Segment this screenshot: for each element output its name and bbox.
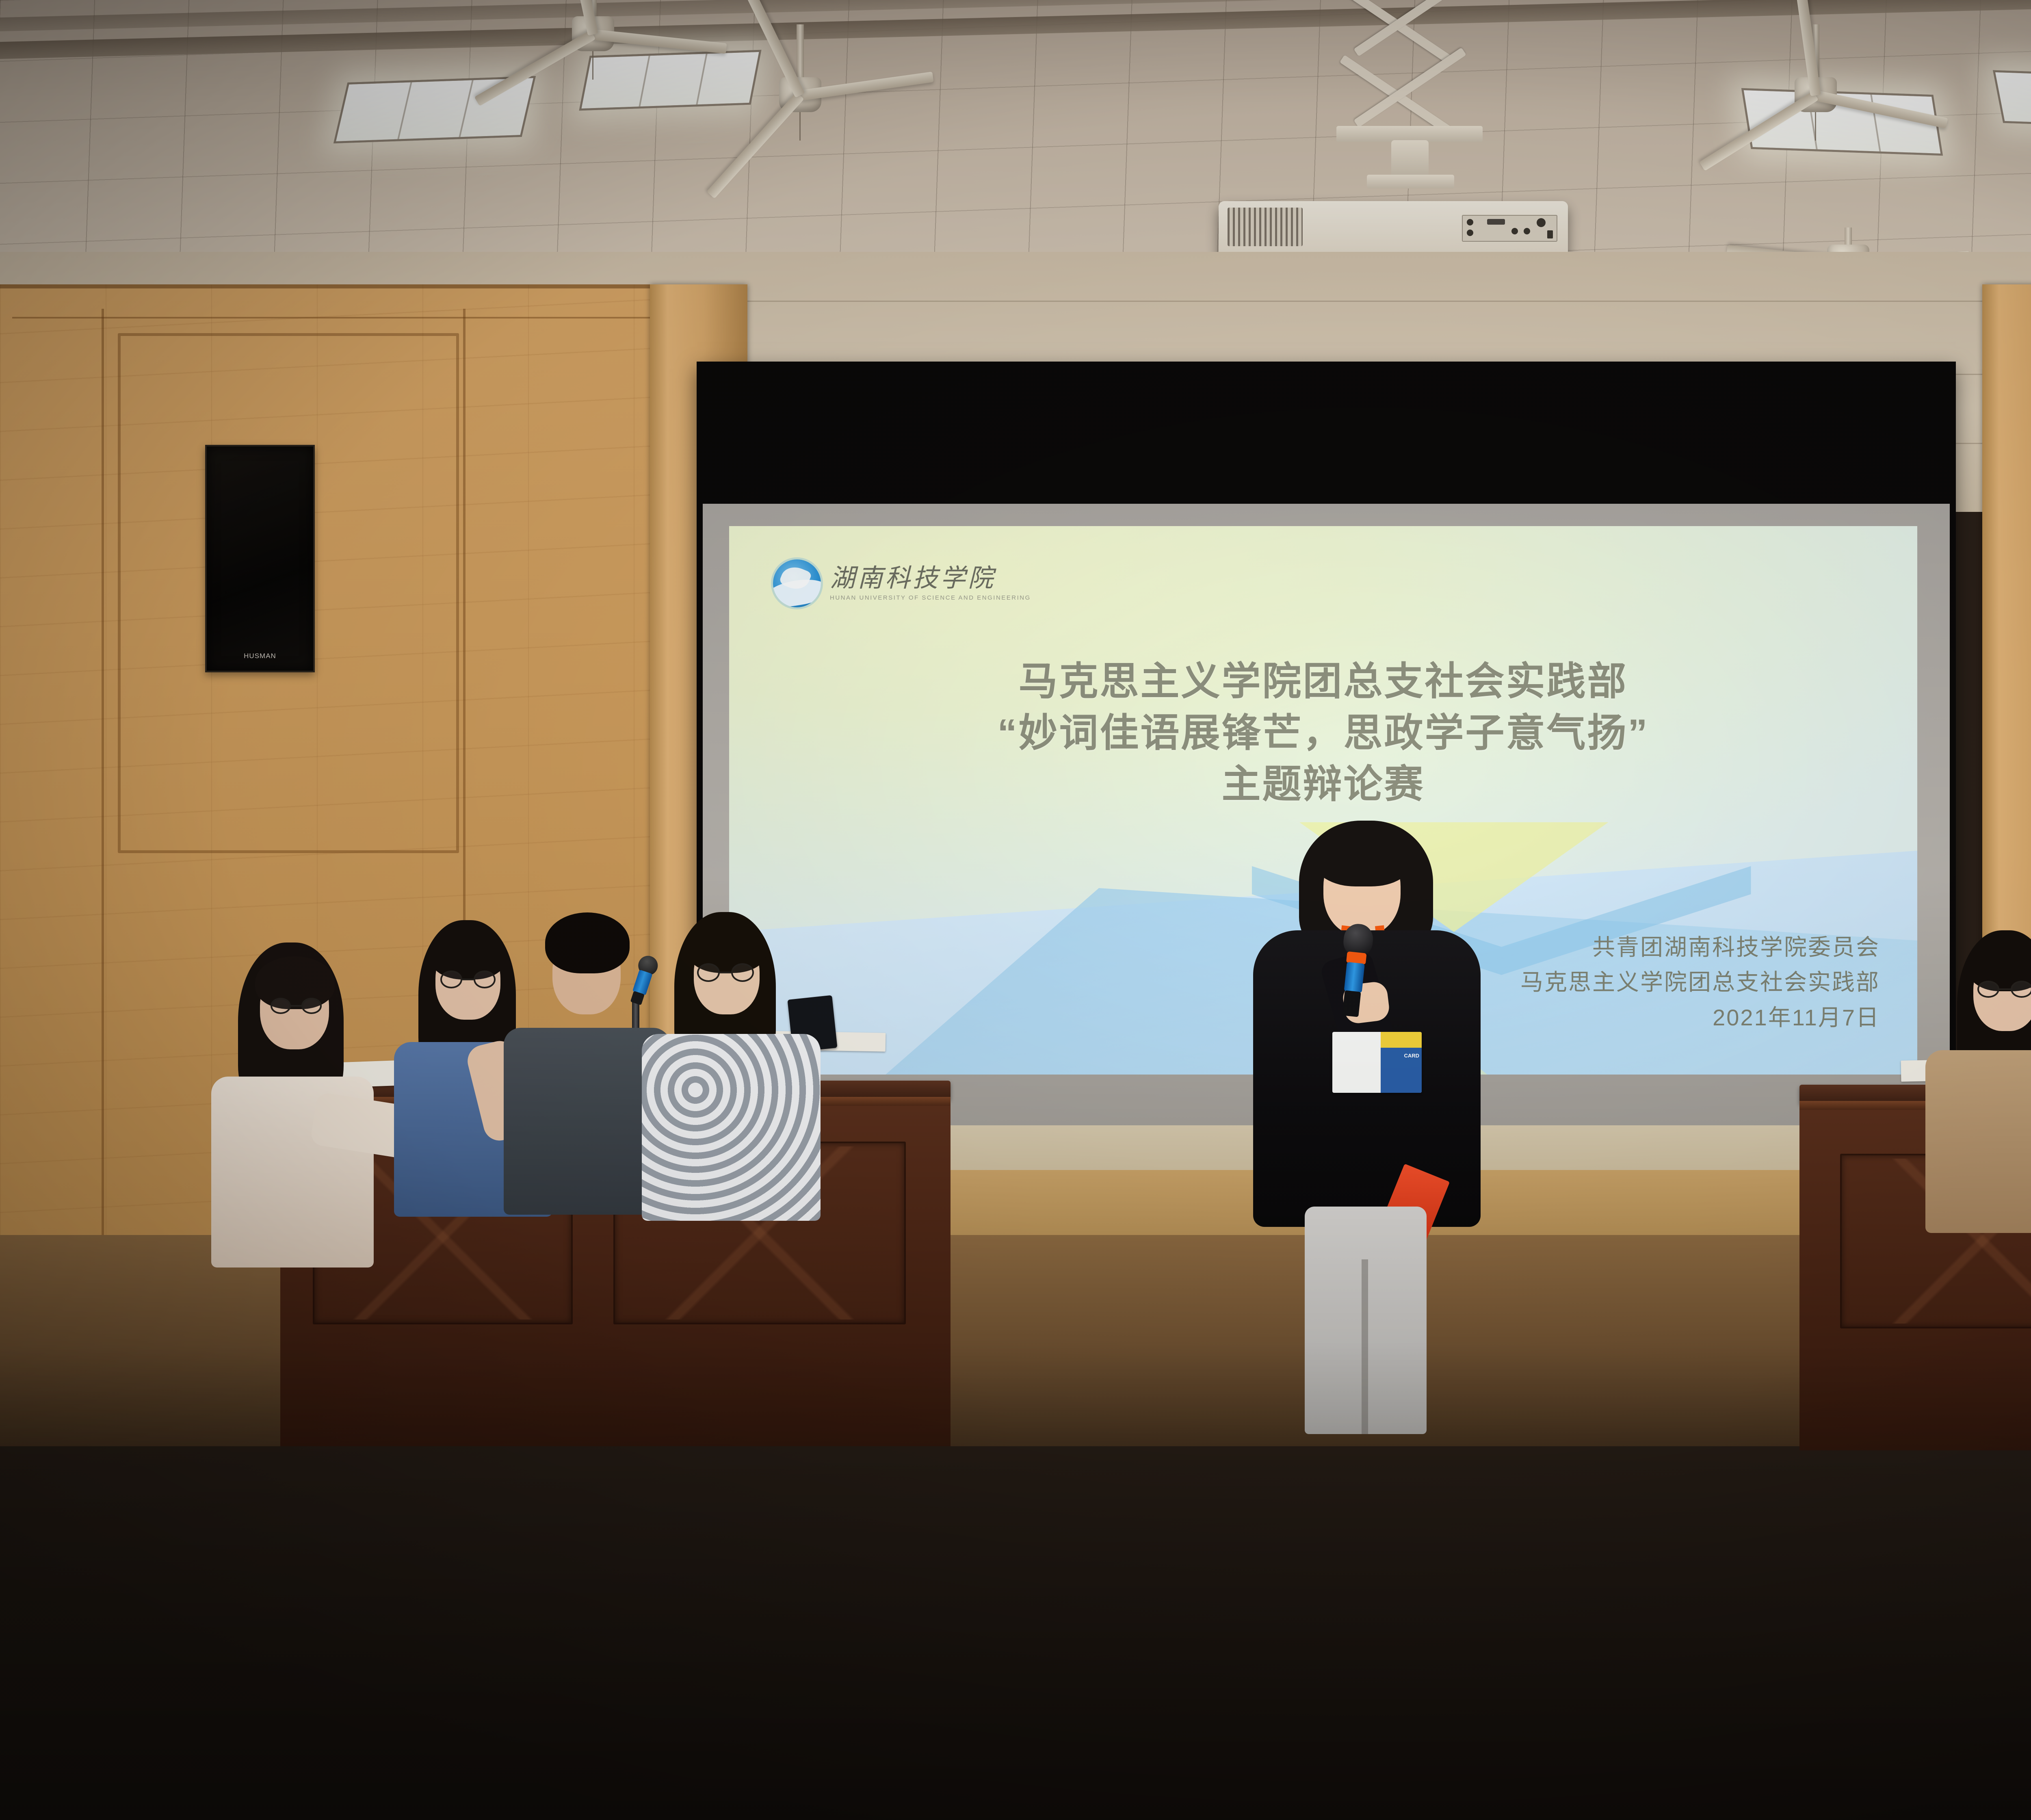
left-table-student-1 — [199, 942, 410, 1308]
right-table-student-1 — [1925, 930, 2031, 1263]
slide-signature: 共青团湖南科技学院委员会 马克思主义学院团总支社会实践部 2021年11月7日 — [1520, 930, 1880, 1036]
slide-signature-line-1: 共青团湖南科技学院委员会 — [1520, 930, 1880, 965]
wall-speaker-left: HUSMAN — [205, 445, 315, 672]
university-crest-icon — [773, 559, 821, 607]
slide-logo-en: HUNAN UNIVERSITY OF SCIENCE AND ENGINEER… — [830, 594, 1031, 601]
slide-signature-line-2: 马克思主义学院团总支社会实践部 — [1520, 965, 1880, 1000]
patterned-hoodie — [642, 1034, 821, 1221]
id-badge: CARD — [1332, 1032, 1422, 1093]
eyeglasses-icon — [697, 963, 754, 982]
projector-vent — [1228, 208, 1303, 246]
eyeglasses-icon — [271, 998, 322, 1014]
lecture-hall-scene: HUSMAN HUSMAN 12 1 2 3 4 5 6 7 8 9 10 11 — [0, 0, 2031, 1820]
audience-area: one — [0, 1292, 2031, 1820]
slide-title-line-3: 主题辩论赛 — [729, 759, 1917, 810]
slide-title-line-2: “妙词佳语展锋芒，思政学子意气扬” — [729, 708, 1917, 759]
eyeglasses-icon — [440, 971, 496, 988]
eyeglasses-icon — [1977, 981, 2031, 998]
wall-speaker-left-brand: HUSMAN — [207, 652, 313, 660]
slide-logo-cn: 湖南科技学院 — [830, 566, 1031, 591]
left-table-student-4 — [642, 912, 829, 1249]
ceiling — [0, 0, 2031, 260]
slide-title-line-1: 马克思主义学院团总支社会实践部 — [729, 656, 1917, 708]
ceiling-fan-1 — [548, 0, 638, 97]
projector-port-panel — [1462, 215, 1557, 242]
ceiling-fan-2 — [756, 24, 845, 146]
slide-title: 马克思主义学院团总支社会实践部 “妙词佳语展锋芒，思政学子意气扬” 主题辩论赛 — [729, 656, 1917, 810]
id-badge-text: CARD — [1404, 1053, 1419, 1059]
ceiling-fan-3 — [1771, 24, 1860, 146]
slide-logo: 湖南科技学院 HUNAN UNIVERSITY OF SCIENCE AND E… — [773, 559, 1031, 607]
slide-signature-date: 2021年11月7日 — [1520, 1000, 1880, 1036]
